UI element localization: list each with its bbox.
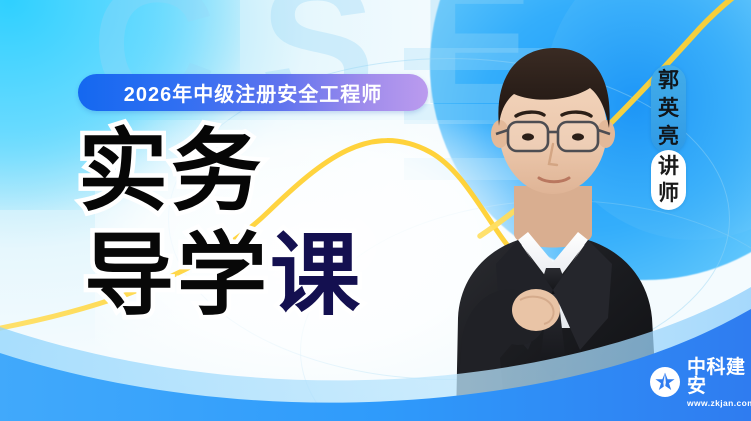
star-arrow-icon — [650, 367, 680, 397]
title-line-primary: 实务 — [78, 128, 408, 216]
brand-url: www.zkjan.com — [687, 399, 751, 408]
brand-logo-text: 中科建安 www.zkjan.com — [687, 358, 751, 408]
instructor-role-char-1: 讲 — [658, 153, 679, 180]
title-line-secondary-accent: 课 — [270, 226, 363, 326]
page-title: 实务 导学课 — [78, 128, 408, 320]
instructor-role-char-2: 师 — [658, 180, 679, 207]
course-badge-label: 2026年中级注册安全工程师 — [124, 78, 383, 107]
instructor-role-badge: 讲 师 — [651, 150, 686, 210]
title-line-secondary-main: 导学 — [84, 226, 270, 326]
instructor-name-badge: 郭 英 亮 — [651, 65, 686, 153]
brand-logo[interactable]: 中科建安 www.zkjan.com — [650, 358, 751, 408]
course-cover-poster: CSE — [0, 0, 751, 421]
title-line-secondary: 导学课 — [84, 232, 408, 320]
instructor-name-char-2: 英 — [658, 95, 679, 123]
instructor-name-char-1: 郭 — [658, 67, 679, 95]
brand-name: 中科建安 — [687, 358, 751, 396]
course-badge[interactable]: 2026年中级注册安全工程师 — [78, 74, 428, 111]
instructor-name-char-3: 亮 — [658, 123, 679, 151]
